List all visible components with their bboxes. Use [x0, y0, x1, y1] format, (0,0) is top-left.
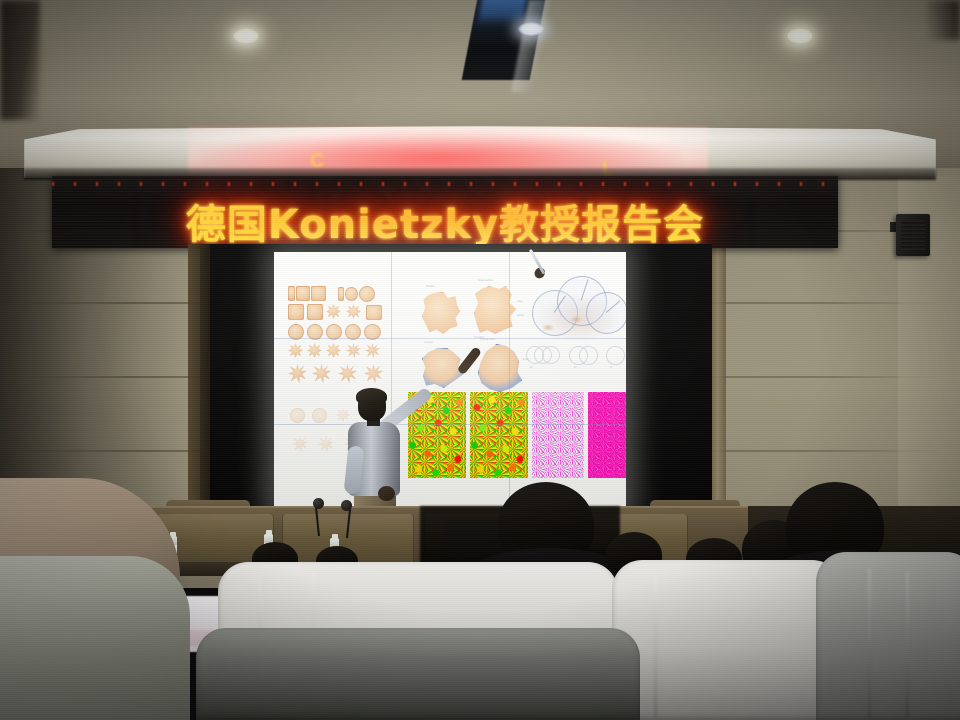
presenter-hair	[356, 388, 387, 405]
screen-seam	[509, 252, 510, 510]
seat-cover	[196, 628, 640, 720]
seat-cover-fold	[868, 568, 871, 718]
seat-cover	[612, 560, 842, 720]
ceiling-corner-shadow-left	[0, 0, 40, 120]
seat-cover-fold	[654, 576, 657, 718]
slide-field-map-4	[588, 392, 626, 478]
ceiling-corner-shadow-right	[926, 0, 960, 40]
seat-cover-fold	[906, 572, 909, 718]
seat-cover	[816, 552, 960, 720]
screen-seam	[274, 424, 626, 425]
screen-seam	[274, 338, 626, 339]
foreground-attendee	[0, 478, 180, 720]
slide-field-map-3	[532, 392, 584, 478]
slide-field-map-2	[470, 392, 528, 478]
led-indicator-dots	[52, 182, 838, 186]
foreground-attendee-body	[0, 556, 190, 720]
wall-speaker-icon	[896, 214, 930, 256]
lecture-hall-photo: C L 德国Konietzky教授报告会	[0, 0, 960, 720]
downlight-icon-center	[518, 22, 544, 36]
led-banner-text: 德国Konietzky教授报告会	[52, 192, 838, 248]
stage-backdrop-frame-left	[188, 244, 210, 522]
ceiling-beam-blue-light	[477, 0, 527, 26]
projection-screen[interactable]: Particle Grain outline edge radius bound…	[274, 252, 626, 510]
led-banner-board: 德国Konietzky教授报告会	[52, 176, 838, 248]
presenter-lower-hand	[378, 486, 395, 501]
